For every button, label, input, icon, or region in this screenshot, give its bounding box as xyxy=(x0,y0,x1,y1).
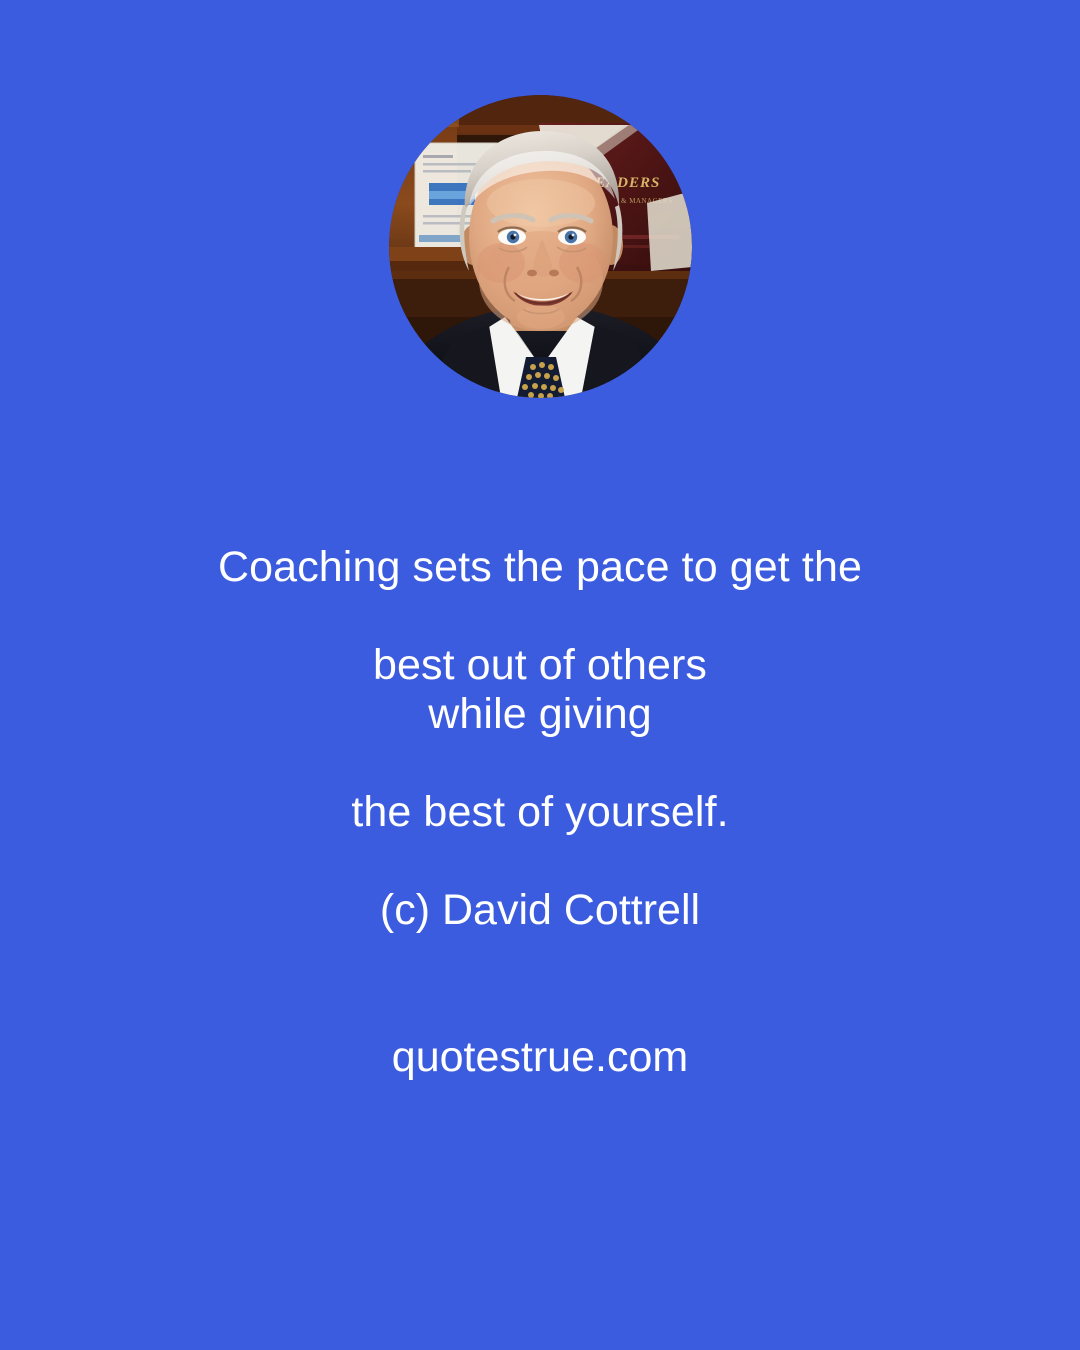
quote-line-2: best out of others xyxy=(0,641,1080,690)
quote-text-block: Coaching sets the pace to get the best o… xyxy=(0,543,1080,1082)
quote-line-4: the best of yourself. xyxy=(0,788,1080,837)
portrait-photo: LEADERS & MANAGERS xyxy=(389,95,692,398)
avatar: LEADERS & MANAGERS xyxy=(389,95,692,398)
source-spacer-2 xyxy=(0,984,1080,1033)
source-website[interactable]: quotestrue.com xyxy=(0,1033,1080,1082)
source-spacer-1 xyxy=(0,935,1080,984)
quote-line-1: Coaching sets the pace to get the xyxy=(0,543,1080,592)
quote-line-spacer-2 xyxy=(0,739,1080,788)
quote-line-spacer-1 xyxy=(0,592,1080,641)
quote-line-3: while giving xyxy=(0,690,1080,739)
attribution-spacer xyxy=(0,837,1080,886)
quote-card: LEADERS & MANAGERS xyxy=(0,0,1080,1350)
quote-attribution: (c) David Cottrell xyxy=(0,886,1080,935)
